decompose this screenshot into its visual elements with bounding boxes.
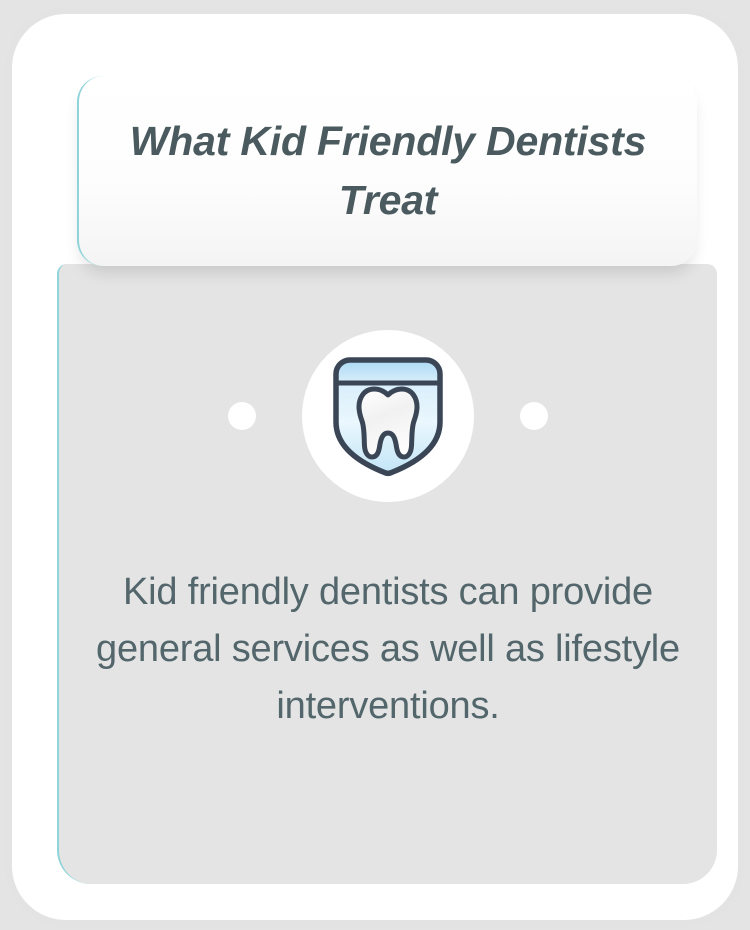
right-dot-decoration	[520, 402, 548, 430]
left-dot-decoration	[228, 402, 256, 430]
card-description: Kid friendly dentists can provide genera…	[59, 564, 717, 735]
icon-badge	[302, 330, 474, 502]
icon-row	[59, 326, 717, 506]
content-card: Kid friendly dentists can provide genera…	[57, 264, 717, 884]
card-outer-frame: Kid friendly dentists can provide genera…	[12, 14, 738, 920]
shield-tooth-icon	[330, 354, 446, 478]
title-card: What Kid Friendly Dentists Treat	[77, 76, 697, 266]
page-title: What Kid Friendly Dentists Treat	[79, 112, 697, 231]
